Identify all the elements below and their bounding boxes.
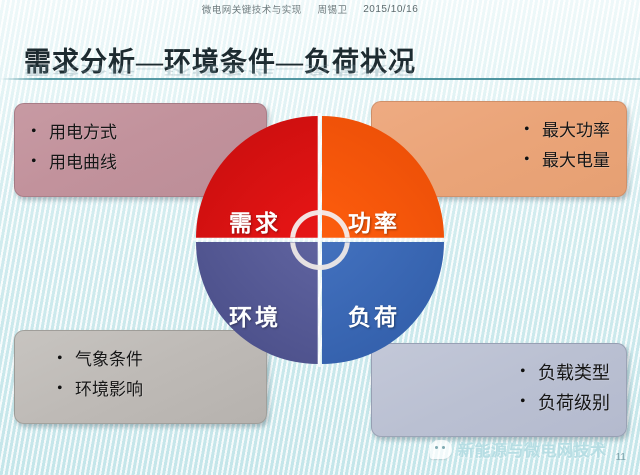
list-item: 最大功率	[524, 116, 610, 146]
slide-canvas: 微电网关键技术与实现 周锡卫 2015/10/16 需求分析—环境条件—负荷状况…	[0, 0, 640, 475]
quadrant-label-environment: 环境	[229, 298, 281, 332]
callout-list-bottom-right: 负载类型 负荷级别	[520, 358, 610, 418]
footer-brand: 新能源与微电网技术	[430, 437, 607, 461]
list-item: 最大电量	[524, 146, 610, 176]
quadrant-label-power: 功率	[348, 204, 400, 238]
list-item: 负荷级别	[520, 388, 610, 418]
quadrant-circle-diagram: 需求 功率 环境 负荷	[196, 116, 444, 364]
wechat-icon	[430, 440, 452, 459]
title-underline-rule	[0, 78, 640, 80]
list-item: 环境影响	[57, 375, 250, 405]
footer-brand-label: 新能源与微电网技术	[458, 437, 607, 461]
quadrant-label-demand: 需求	[229, 204, 281, 238]
list-item: 负载类型	[520, 358, 610, 388]
page-number: 11	[616, 452, 626, 463]
header-course-title: 微电网关键技术与实现	[202, 2, 302, 16]
callout-list-top-right: 最大功率 最大电量	[524, 116, 610, 176]
header-author: 周锡卫	[317, 2, 347, 16]
header-date: 2015/10/16	[363, 4, 418, 15]
slide-header: 微电网关键技术与实现 周锡卫 2015/10/16	[0, 2, 640, 16]
quadrant-label-load: 负荷	[348, 298, 400, 332]
page-title: 需求分析—环境条件—负荷状况	[24, 40, 416, 79]
